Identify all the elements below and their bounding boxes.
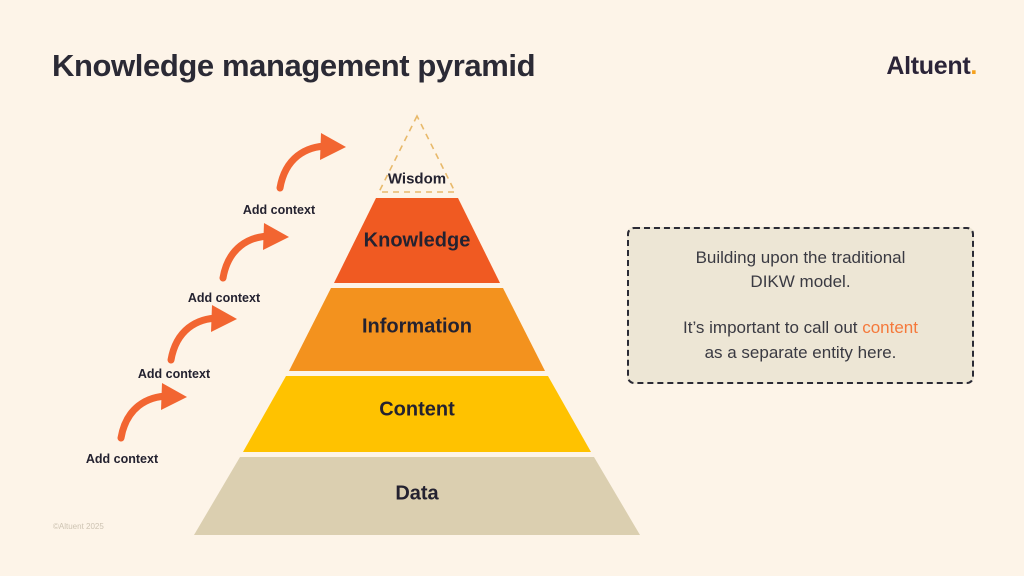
add-context-arrowhead-3: [211, 305, 237, 332]
add-context-label-2: Add context: [188, 291, 260, 305]
pyramid-label-knowledge: Knowledge: [364, 230, 471, 253]
pyramid-label-wisdom: Wisdom: [388, 171, 446, 188]
add-context-label-1: Add context: [243, 203, 315, 217]
pyramid-label-information: Information: [362, 316, 472, 339]
callout-line-2: DIKW model.: [750, 272, 850, 291]
callout-line-4: as a separate entity here.: [705, 343, 897, 362]
callout-line-1: Building upon the traditional: [696, 248, 906, 267]
footer-copyright: ©Altuent 2025: [53, 522, 104, 531]
pyramid-label-data: Data: [395, 483, 438, 506]
add-context-arrowhead-2: [263, 223, 289, 250]
add-context-label-3: Add context: [138, 367, 210, 381]
callout-highlight-content: content: [862, 318, 918, 337]
callout-paragraph-1: Building upon the traditional DIKW model…: [696, 246, 906, 295]
add-context-arrowhead-4: [161, 383, 187, 410]
add-context-label-4: Add context: [86, 452, 158, 466]
pyramid-label-content: Content: [379, 399, 455, 422]
slide-canvas: Knowledge management pyramid Altuent.: [0, 0, 1024, 576]
callout-line-3-prefix: It’s important to call out: [683, 318, 862, 337]
callout-box: Building upon the traditional DIKW model…: [627, 227, 974, 384]
add-context-arrowhead-1: [320, 133, 346, 160]
callout-paragraph-2: It’s important to call out content as a …: [683, 316, 918, 365]
